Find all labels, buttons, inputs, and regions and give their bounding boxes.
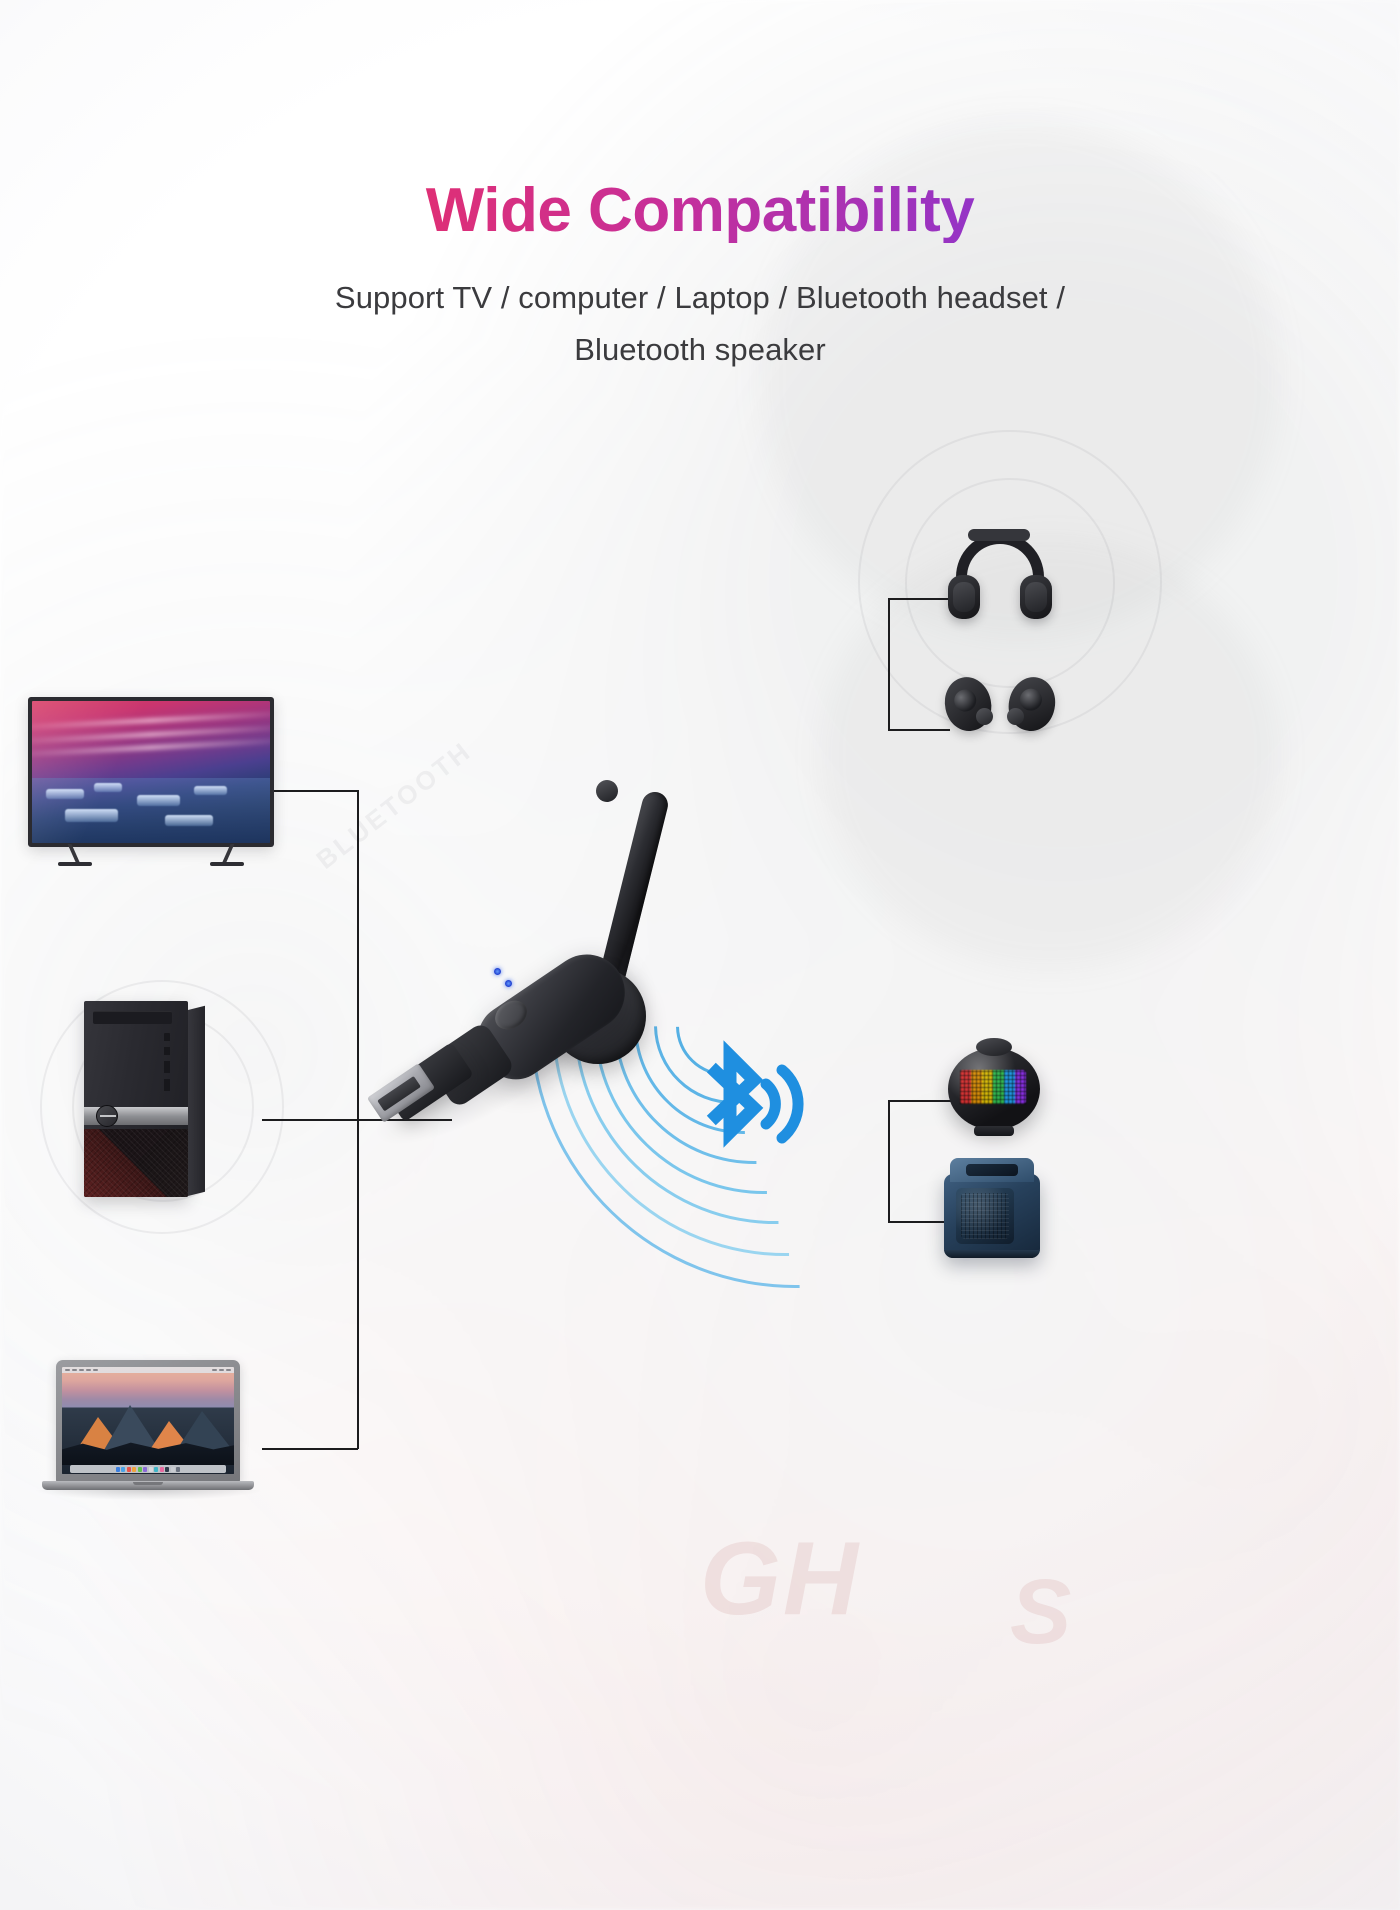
desktop-wallpaper <box>62 1367 234 1474</box>
product-marketing-image: BLUETOOTH GH S Wide Compatibility Suppor… <box>0 0 1400 1910</box>
earcup-right <box>1020 575 1052 619</box>
dock <box>70 1465 226 1473</box>
bluetooth-usb-adapter <box>372 790 672 1110</box>
laptop-base <box>42 1481 254 1490</box>
led-indicator <box>494 968 501 975</box>
tower-front-panel <box>84 1001 188 1197</box>
connector-line-cube-speaker <box>888 1221 948 1223</box>
earcup-left <box>948 575 980 619</box>
headphones-icon <box>948 533 1052 633</box>
earbuds-icon <box>945 673 1055 739</box>
brand-logo <box>96 1105 118 1127</box>
page-subtitle-line-1: Support TV / computer / Laptop / Bluetoo… <box>335 280 1065 315</box>
tv-foot-left <box>58 862 92 866</box>
connector-line-left-trunk <box>357 790 359 1120</box>
tv-screen <box>32 701 270 843</box>
connector-line-right-trunk-top <box>888 598 890 730</box>
front-port-cluster <box>164 1033 170 1099</box>
headband-pad <box>968 529 1030 541</box>
speaker-stand <box>974 1126 1014 1136</box>
speaker-top-panel <box>950 1158 1034 1182</box>
speaker-top-cap <box>976 1038 1012 1056</box>
speaker-sphere <box>948 1048 1040 1130</box>
desktop-tower-icon <box>84 1001 188 1197</box>
laptop-lid <box>56 1360 240 1482</box>
eartip-right <box>1007 708 1024 725</box>
connector-line-right-trunk-bottom <box>888 1100 890 1222</box>
eartip-left <box>976 708 993 725</box>
tv-foot-right <box>210 862 244 866</box>
cube-speaker-icon <box>944 1158 1040 1264</box>
led-indicator <box>505 980 512 987</box>
background-graffiti: GH <box>700 1520 860 1639</box>
tower-side-panel <box>187 1006 205 1196</box>
earbud-right <box>1004 673 1060 735</box>
background-graffiti: S <box>1010 1560 1073 1665</box>
laptop-screen <box>62 1367 234 1474</box>
laptop-icon <box>42 1360 254 1500</box>
connector-line-left-trunk-lower <box>357 1119 359 1449</box>
bluetooth-logo-svg <box>686 1040 806 1170</box>
connector-line-ball-speaker <box>888 1100 952 1102</box>
speaker-driver-face <box>956 1188 1014 1244</box>
photo-canvas: BLUETOOTH GH S Wide Compatibility Suppor… <box>0 0 1400 1910</box>
tv-icon <box>28 697 274 847</box>
speaker-grille <box>960 1070 1026 1104</box>
laptop-shadow <box>36 1490 260 1500</box>
tower-front-mesh <box>84 1129 188 1197</box>
speaker-base-rim <box>944 1250 1040 1258</box>
page-subtitle: Support TV / computer / Laptop / Bluetoo… <box>0 272 1400 376</box>
speaker-body <box>944 1174 1040 1258</box>
connector-line-tv <box>262 790 358 792</box>
earbud-left <box>940 673 996 735</box>
optical-drive-slot <box>93 1011 172 1024</box>
tv-frame <box>28 697 274 847</box>
connector-line-laptop <box>262 1448 358 1450</box>
menu-bar <box>62 1367 234 1373</box>
ball-speaker-icon <box>948 1038 1040 1134</box>
page-subtitle-line-2: Bluetooth speaker <box>574 332 826 367</box>
page-title: Wide Compatibility <box>0 178 1400 243</box>
connector-line-earbuds <box>888 729 950 731</box>
bluetooth-icon <box>686 1040 806 1170</box>
